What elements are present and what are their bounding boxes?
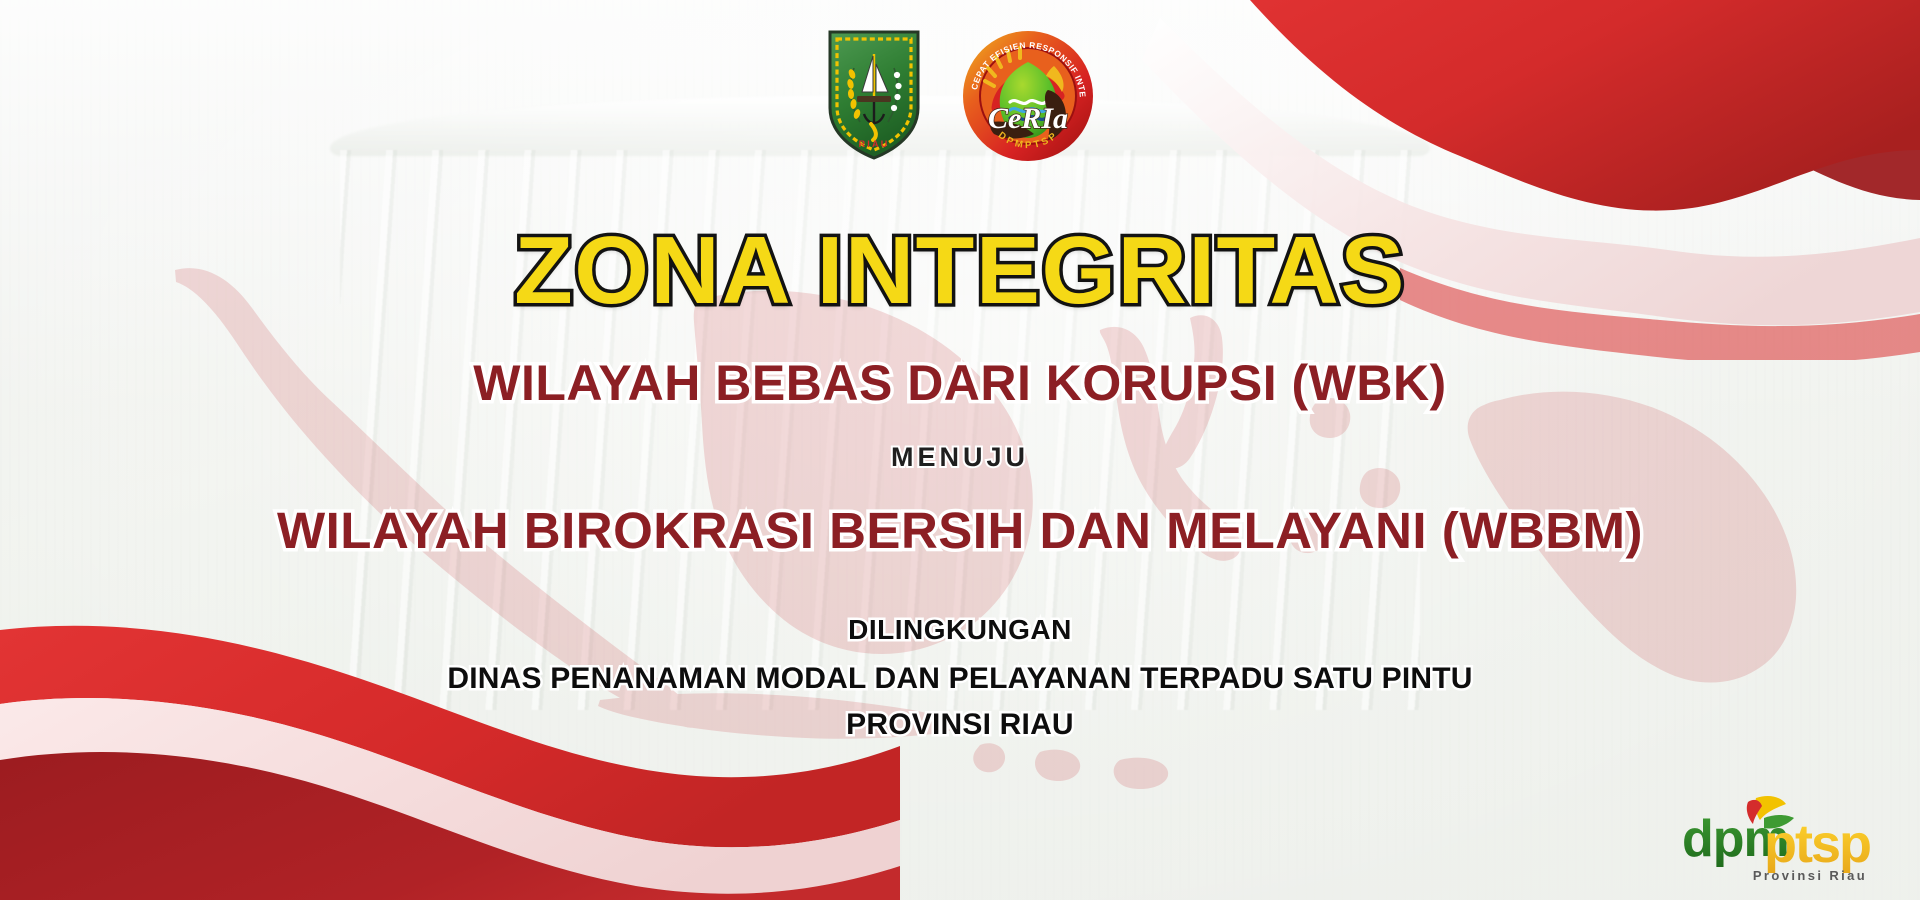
subtitle-wbbm: WILAYAH BIROKRASI BERSIH DAN MELAYANI (W… — [0, 473, 1920, 560]
page-title: ZONA INTEGRITAS — [0, 0, 1920, 318]
zona-integritas-banner: RIAU — [0, 0, 1920, 900]
subtitle-wbk: WILAYAH BEBAS DARI KORUPSI (WBK) — [0, 318, 1920, 412]
footer-line-dinas: DINAS PENANAMAN MODAL DAN PELAYANAN TERP… — [0, 646, 1920, 696]
ptsp-wordmark-yellow: ptsp — [1764, 814, 1870, 874]
footer-line-provinsi: PROVINSI RIAU — [0, 696, 1920, 742]
label-menuju: MENUJU — [0, 412, 1920, 473]
dpmptsp-wordmark-logo-icon: dpm ptsp Provinsi Riau — [1660, 782, 1892, 886]
footer-text-block: DILINGKUNGAN DINAS PENANAMAN MODAL DAN P… — [0, 560, 1920, 742]
footer-line-dilingkungan: DILINGKUNGAN — [0, 614, 1920, 646]
dpmptsp-subtitle: Provinsi Riau — [1753, 868, 1867, 883]
banner-text-content: ZONA INTEGRITAS WILAYAH BEBAS DARI KORUP… — [0, 0, 1920, 742]
